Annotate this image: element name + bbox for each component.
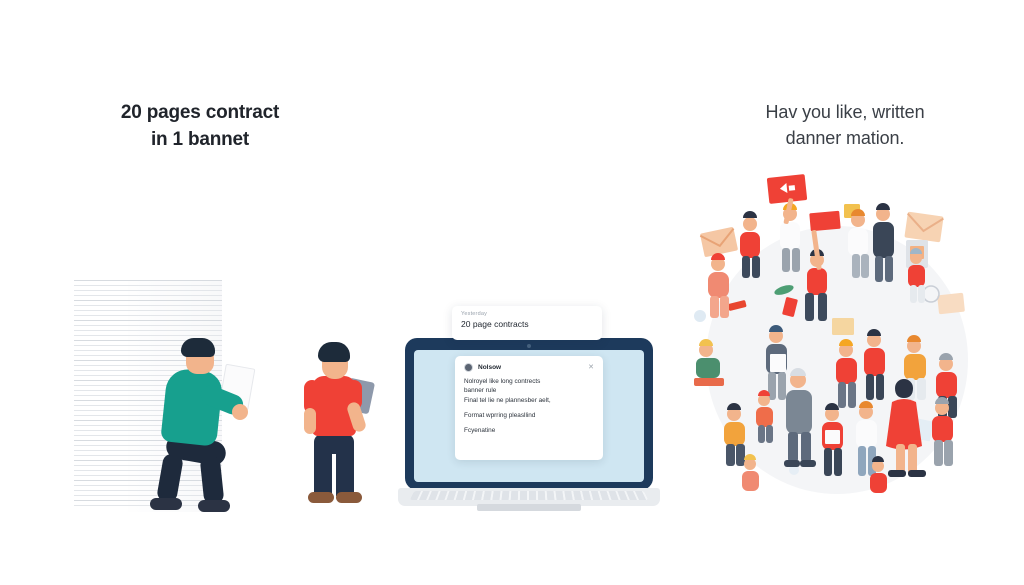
notification-line-secondary: Fcyenatine [464,426,594,435]
red-flag-icon [809,211,840,232]
crowd-figures [688,168,988,520]
summary-card[interactable]: Yesterday 20 page contracts [452,306,602,340]
paper-sheet [74,305,222,306]
paper-sheet [74,290,222,291]
notification-sender: Nolsow [478,364,583,371]
crowd-person [836,339,857,408]
crowd-person [780,198,800,272]
right-heading: Hav you like, written danner mation. [700,100,990,151]
crowd-person [784,368,816,467]
reader-shoe-right [198,500,230,512]
crowd-person [870,456,887,493]
paper-sheet [74,335,222,336]
paper-sheet [74,285,222,286]
left-heading: 20 pages contract in 1 bannet [55,100,345,154]
crowd-illustration [688,168,988,520]
crowd-person [873,203,894,282]
notification-line: Final tel lie ne plannesber aelt, [464,396,594,405]
notification-line: Nolroyel like long contrects [464,377,594,386]
red-flag-icon [782,297,798,317]
avatar [464,363,473,372]
envelope-icon [904,212,943,243]
paper-sheet [74,325,222,326]
crowd-person [864,329,885,400]
megaphone-banner-icon [767,174,808,204]
paper-sheet [74,295,222,296]
crowd-person [694,339,724,386]
paper-sheet [74,320,222,321]
crowd-person [805,230,827,321]
stander-arm-left [304,408,316,434]
laptop-camera-icon [527,344,531,348]
dot-accent [694,310,706,322]
stander-shoe-right [336,492,362,503]
sign-board-icon [832,318,854,335]
crowd-person [766,325,787,400]
illustration-canvas: 20 pages contract in 1 bannet Hav you li… [0,0,1024,585]
laptop-trackpad [477,504,581,511]
crowd-person [740,211,760,278]
reader-shin-left [156,453,184,504]
crowd-person [848,209,869,278]
notification-body: Nolroyel like long contrects banner rule… [464,377,594,435]
envelope-icon [700,227,738,258]
summary-card-title: 20 page contracts [461,319,593,329]
paper-sheet [74,300,222,301]
reader-person [150,338,260,518]
summary-card-label: Yesterday [461,311,593,317]
clock-icon [923,286,939,302]
stander-hair [318,342,350,362]
standing-person [298,342,376,520]
notification-card[interactable]: Nolsow ✕ Nolroyel like long contrects ba… [455,356,603,460]
notification-line-secondary: Format wprring pleasllind [464,411,594,420]
notification-line: banner rule [464,386,594,395]
notification-header: Nolsow ✕ [464,363,594,372]
crowd-person [724,403,745,466]
stander-leg-gap [332,454,336,498]
stander-shoe-left [308,492,334,503]
reader-hand [232,404,248,420]
paper-sheet [74,330,222,331]
crowd-person [822,403,843,476]
red-flag-icon [728,300,747,311]
leaf-accent [773,283,794,297]
reader-hair [181,338,215,357]
crowd-person [708,253,729,318]
envelope-icon [937,293,965,315]
paper-sheet [74,315,222,316]
close-icon[interactable]: ✕ [588,364,594,371]
reader-shoe-left [150,498,182,510]
paper-sheet [74,280,222,281]
laptop-keyboard [410,491,648,500]
paper-sheet [74,310,222,311]
crowd-person [742,454,759,491]
